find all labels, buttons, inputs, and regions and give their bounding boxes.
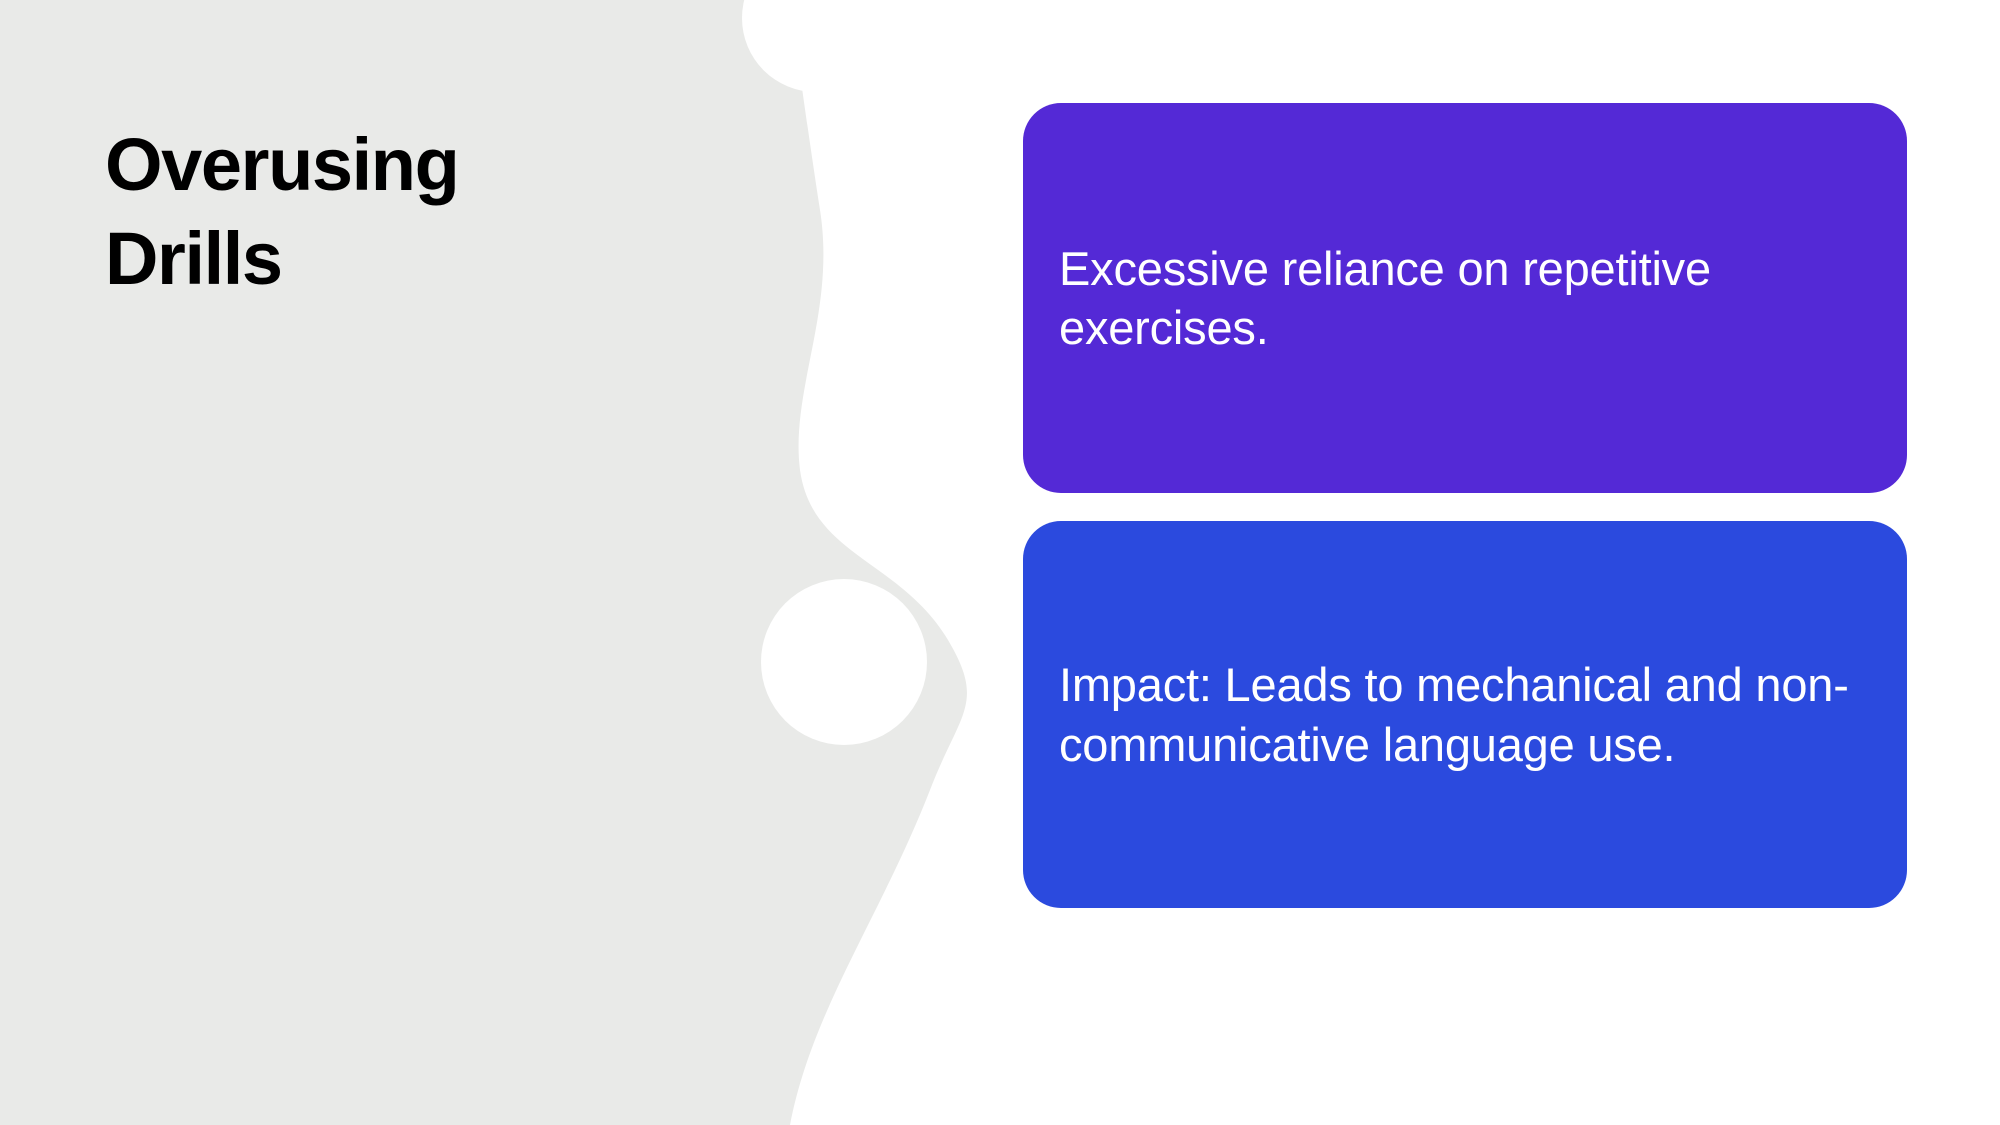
- title-block: Overusing Drills: [105, 118, 725, 306]
- card-point-text: Excessive reliance on repetitive exercis…: [1059, 239, 1861, 357]
- card-impact[interactable]: Impact: Leads to mechanical and non-comm…: [1023, 521, 1907, 908]
- slide-canvas: Overusing Drills Excessive reliance on r…: [0, 0, 2000, 1125]
- cards-container: Excessive reliance on repetitive exercis…: [1023, 103, 1907, 908]
- card-impact-text: Impact: Leads to mechanical and non-comm…: [1059, 655, 1861, 773]
- card-point[interactable]: Excessive reliance on repetitive exercis…: [1023, 103, 1907, 493]
- page-title: Overusing Drills: [105, 118, 725, 306]
